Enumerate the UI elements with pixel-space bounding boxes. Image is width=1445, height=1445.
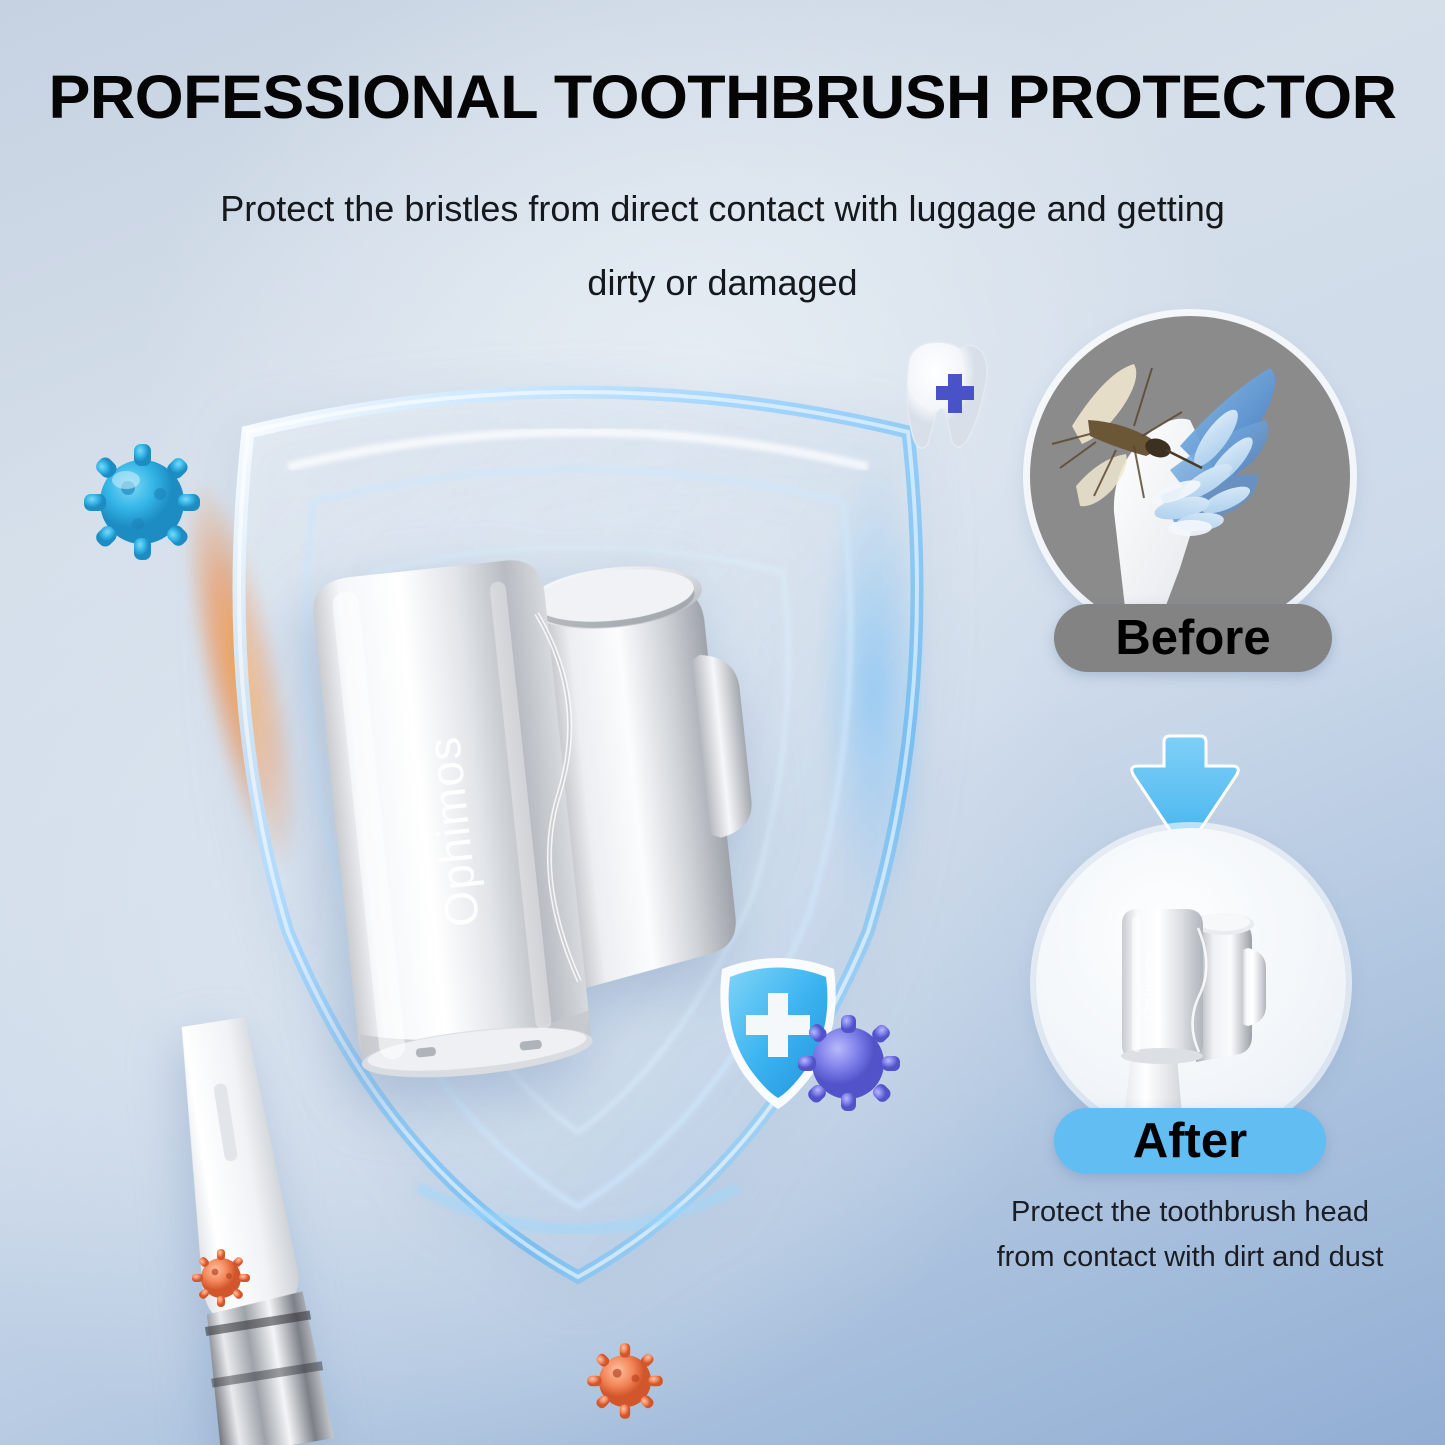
germ-particle-orange-bottom <box>582 1338 668 1424</box>
page-title: PROFESSIONAL TOOTHBRUSH PROTECTOR <box>0 62 1445 132</box>
before-photo-circle <box>1030 316 1350 636</box>
page-subtitle: Protect the bristles from direct contact… <box>150 172 1295 320</box>
germ-particle-blue <box>72 432 212 572</box>
product-marketing-image: PROFESSIONAL TOOTHBRUSH PROTECTOR Protec… <box>0 0 1445 1445</box>
after-label-text: After <box>1133 1113 1247 1169</box>
after-caption: Protect the toothbrush head from contact… <box>982 1190 1398 1280</box>
tooth-icon <box>880 330 1008 458</box>
after-caption-line-2: from contact with dirt and dust <box>982 1235 1398 1280</box>
before-label-pill: Before <box>1054 604 1332 672</box>
after-product-brand-label: Ophimos <box>1140 952 1159 1020</box>
subtitle-line-1: Protect the bristles from direct contact… <box>150 172 1295 246</box>
before-scene <box>1030 316 1350 636</box>
after-scene: Ophimos <box>1036 828 1346 1138</box>
before-panel: Before <box>1014 316 1364 686</box>
after-caption-line-1: Protect the toothbrush head <box>982 1190 1398 1235</box>
germ-particle-orange-left <box>188 1245 254 1311</box>
subtitle-line-2: dirty or damaged <box>150 246 1295 320</box>
before-label-text: Before <box>1115 610 1270 666</box>
after-panel: Ophimos After Protect the toothbrush hea… <box>1002 730 1372 1180</box>
after-photo-circle: Ophimos <box>1036 828 1346 1138</box>
shield-badge-icon <box>700 945 910 1120</box>
after-label-pill: After <box>1054 1108 1326 1174</box>
